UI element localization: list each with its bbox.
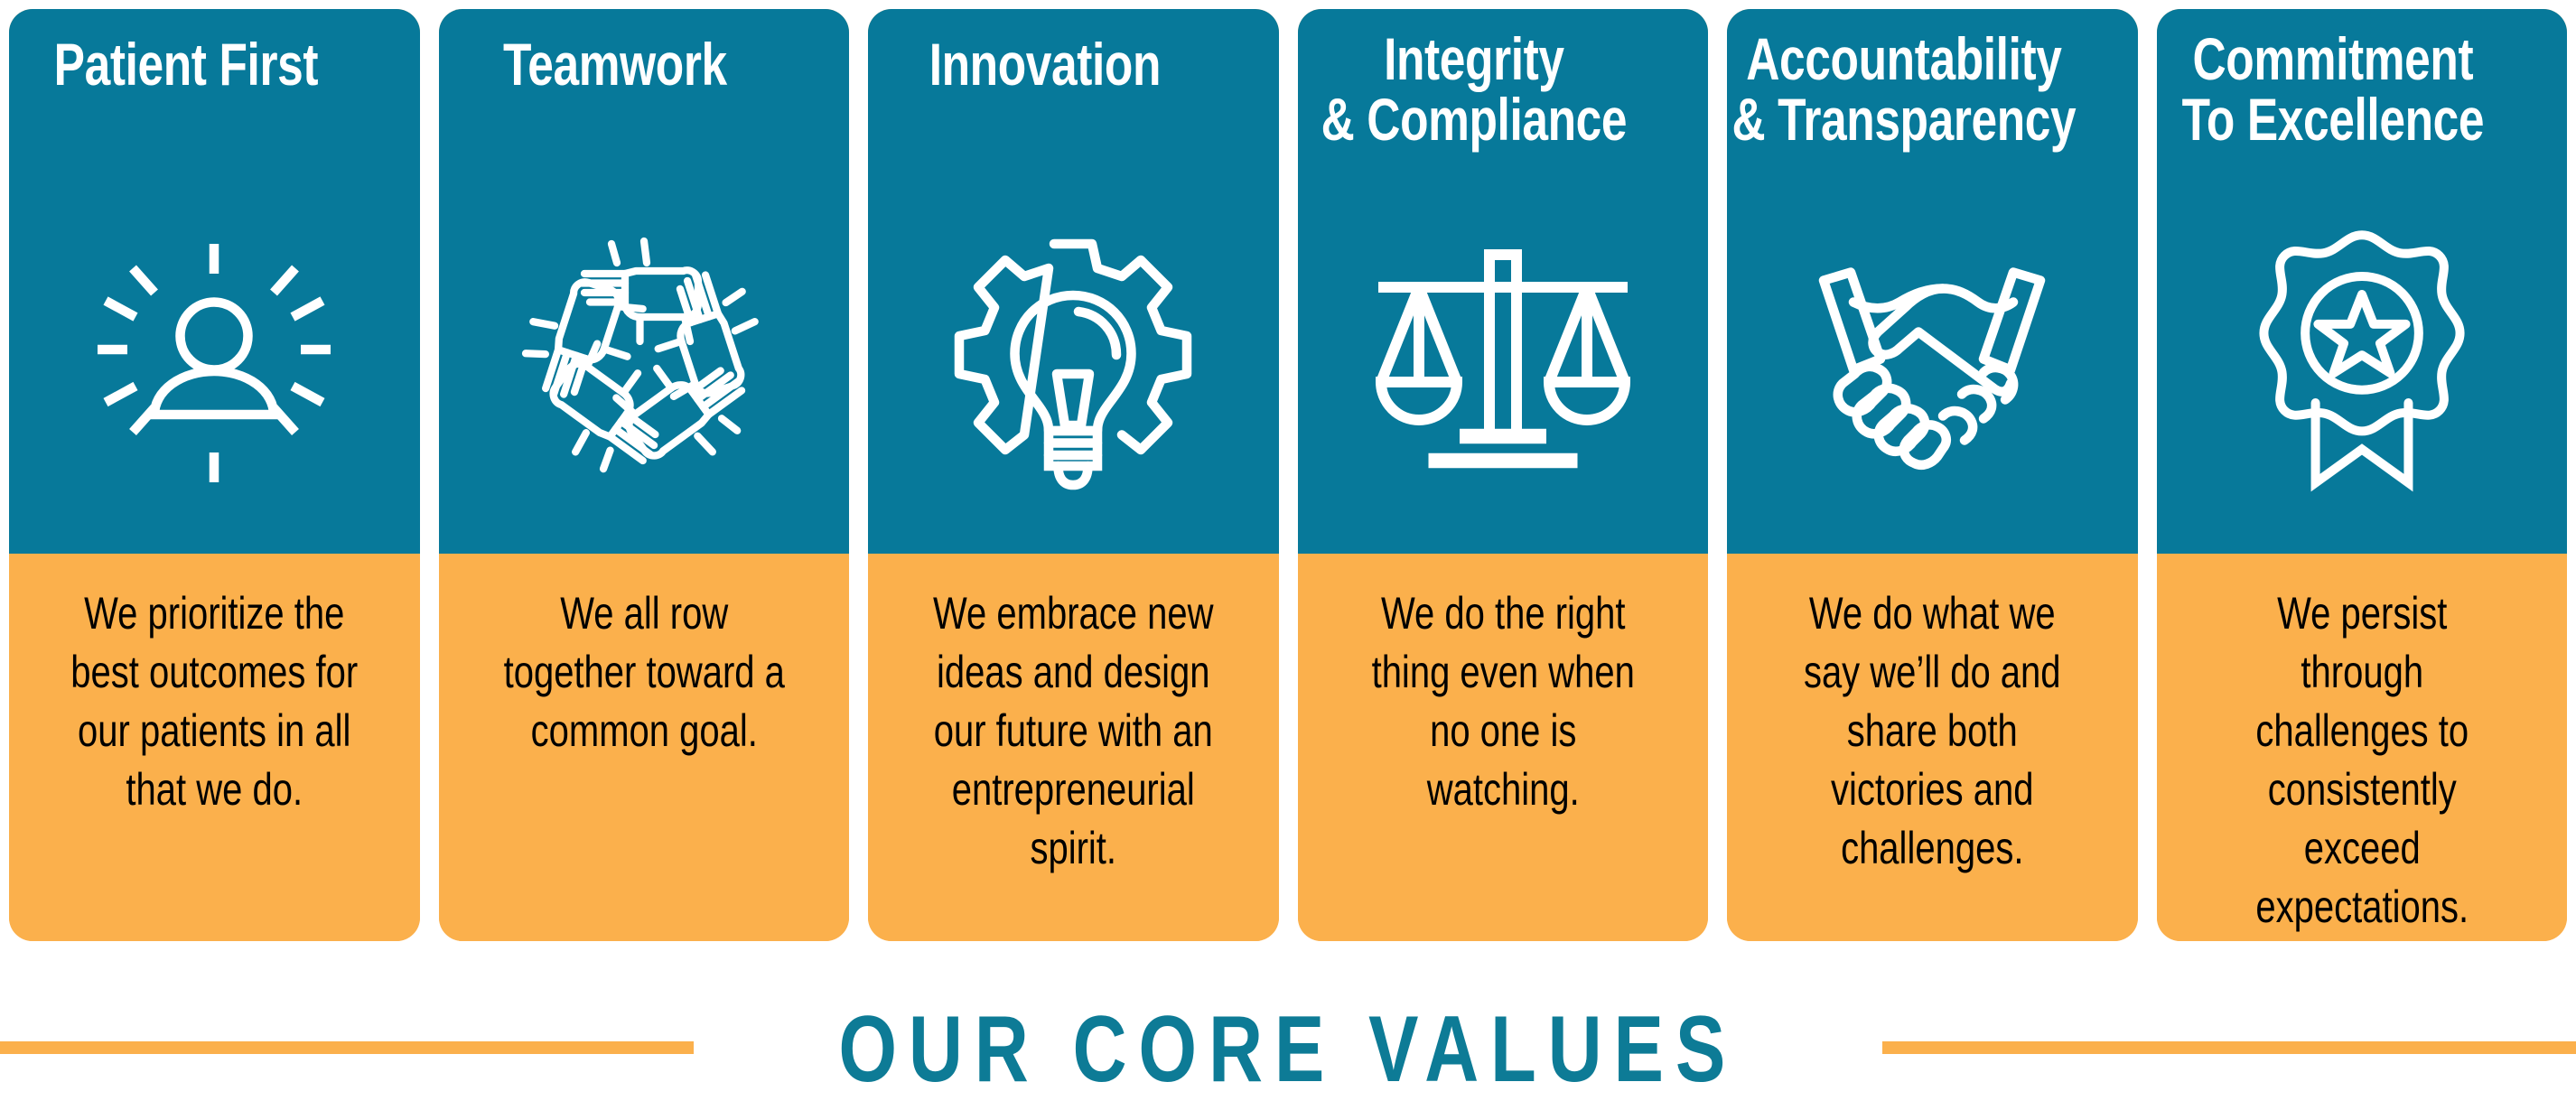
card-text-integrity-compliance: We do the right thing even when no one i… [1358, 584, 1648, 819]
card-body-accountability-transparency: We do what we say we’ll do and share bot… [1727, 554, 2138, 941]
award-rosette-icon [2157, 181, 2568, 534]
footer-banner: OUR CORE VALUES [0, 993, 2576, 1102]
value-card-accountability-transparency[interactable]: Accountability& Transparency [1727, 9, 2138, 941]
balance-scales-icon [1298, 181, 1709, 534]
value-card-teamwork[interactable]: Teamwork [439, 9, 850, 941]
card-body-commitment-to-excellence: We persist through challenges to consist… [2157, 554, 2568, 941]
value-card-commitment-to-excellence[interactable]: CommitmentTo Excellence We persist [2157, 9, 2568, 941]
value-card-innovation[interactable]: Innovation [868, 9, 1279, 941]
values-card-row: Patient First [9, 9, 2567, 941]
card-title-commitment-to-excellence: CommitmentTo Excellence [2157, 9, 2538, 151]
banner-rule-right [1882, 1041, 2576, 1054]
person-with-rays-icon [9, 181, 420, 534]
banner-rule-left [0, 1041, 694, 1054]
card-text-commitment-to-excellence: We persist through challenges to consist… [2217, 584, 2507, 937]
card-text-teamwork: We all row together toward a common goal… [499, 584, 789, 760]
card-header-teamwork: Teamwork [439, 9, 850, 554]
card-title-line-1: Accountability [1746, 25, 2061, 92]
card-title-patient-first: Patient First [9, 9, 390, 95]
card-title-integrity-compliance: Integrity& Compliance [1298, 9, 1679, 151]
card-title-line-2: To Excellence [2182, 86, 2484, 153]
card-header-integrity-compliance: Integrity& Compliance [1298, 9, 1709, 554]
core-values-infographic: Patient First [0, 0, 2576, 1110]
card-title-line-1: Integrity [1384, 25, 1564, 92]
lightbulb-in-gear-icon [868, 181, 1279, 534]
card-header-commitment-to-excellence: CommitmentTo Excellence [2157, 9, 2568, 554]
card-body-patient-first: We prioritize the best outcomes for our … [9, 554, 420, 941]
interlocking-hands-icon [439, 181, 850, 534]
card-header-patient-first: Patient First [9, 9, 420, 554]
card-header-innovation: Innovation [868, 9, 1279, 554]
card-body-innovation: We embrace new ideas and design our futu… [868, 554, 1279, 941]
card-text-patient-first: We prioritize the best outcomes for our … [69, 584, 359, 819]
card-title-innovation: Innovation [868, 9, 1249, 95]
card-text-accountability-transparency: We do what we say we’ll do and share bot… [1787, 584, 2077, 878]
card-header-accountability-transparency: Accountability& Transparency [1727, 9, 2138, 554]
card-title-accountability-transparency: Accountability& Transparency [1727, 9, 2108, 151]
card-body-integrity-compliance: We do the right thing even when no one i… [1298, 554, 1709, 941]
card-title-teamwork: Teamwork [439, 9, 820, 95]
value-card-integrity-compliance[interactable]: Integrity& Compliance [1298, 9, 1709, 941]
card-title-line-2: & Transparency [1731, 86, 2076, 153]
banner-title: OUR CORE VALUES [839, 1003, 1738, 1096]
value-card-patient-first[interactable]: Patient First [9, 9, 420, 941]
card-text-innovation: We embrace new ideas and design our futu… [928, 584, 1218, 878]
card-body-teamwork: We all row together toward a common goal… [439, 554, 850, 941]
card-title-line-1: Commitment [2193, 25, 2474, 92]
handshake-icon [1727, 181, 2138, 534]
card-title-line-2: & Compliance [1321, 86, 1628, 153]
